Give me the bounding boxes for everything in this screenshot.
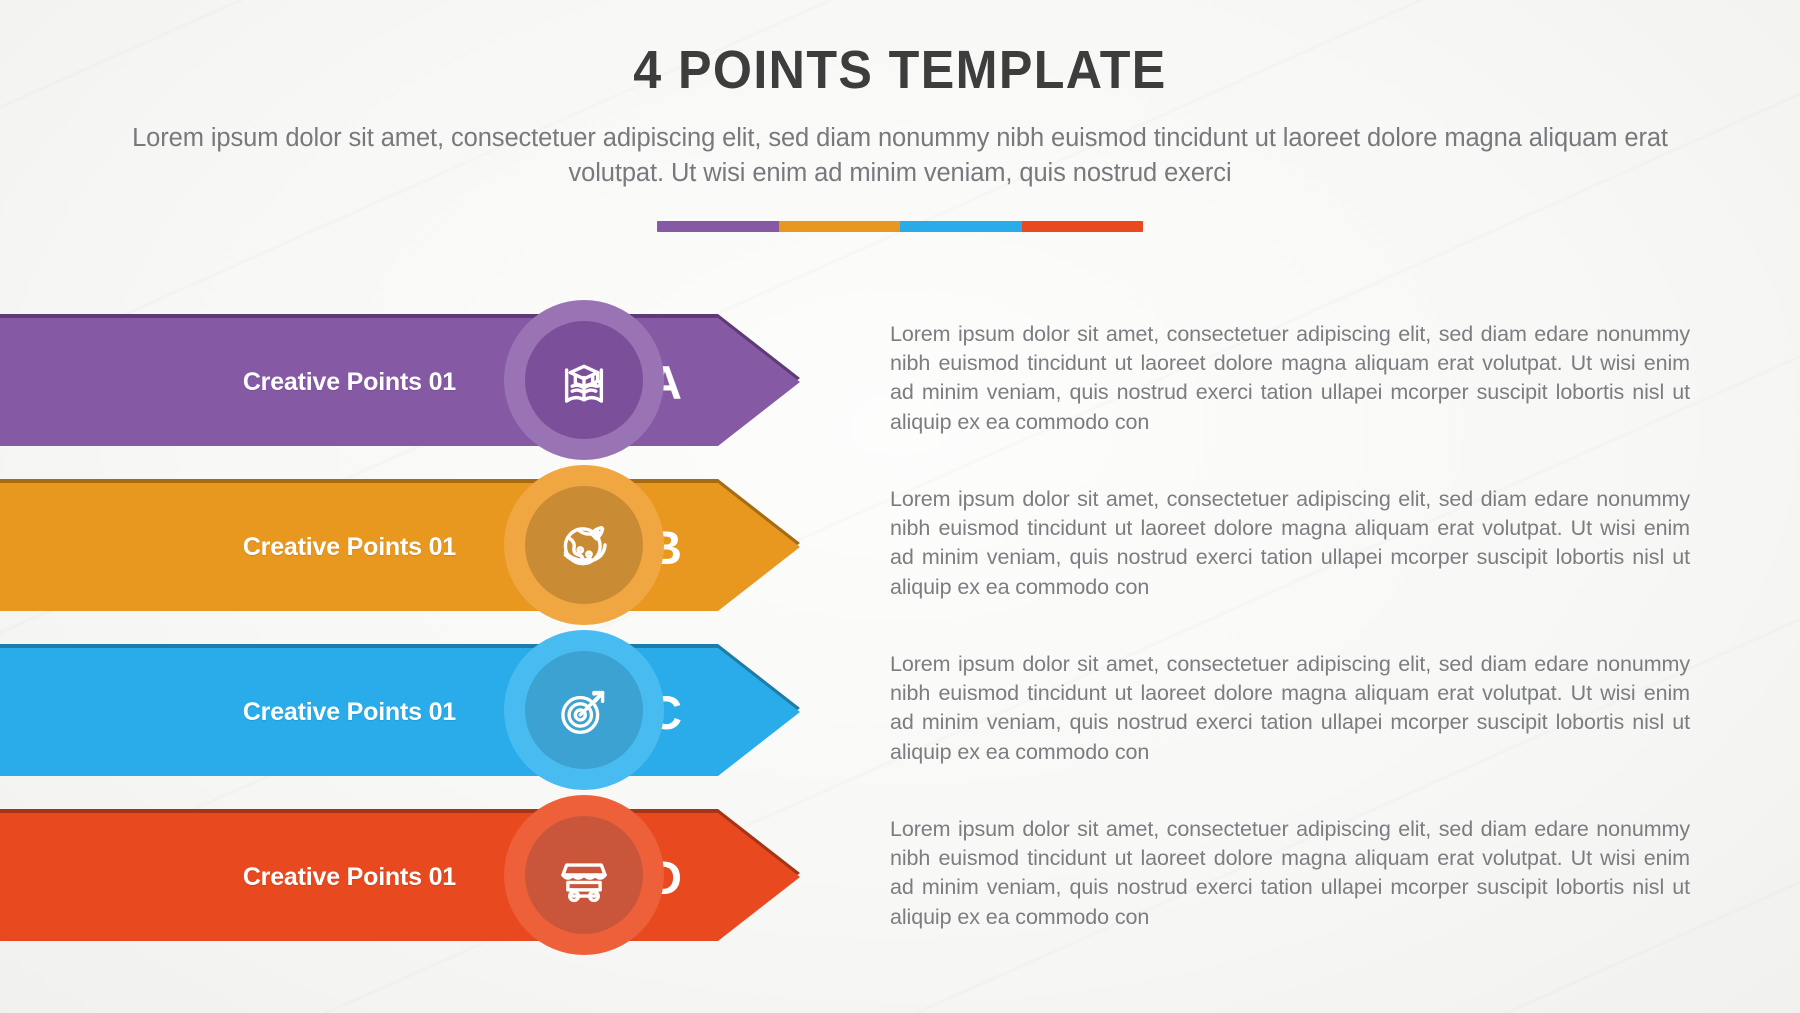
point-description: Lorem ipsum dolor sit amet, consectetuer… bbox=[890, 815, 1690, 932]
header: 4 POINTS TEMPLATE Lorem ipsum dolor sit … bbox=[0, 0, 1800, 191]
divider-segment-2 bbox=[779, 221, 901, 232]
page-subtitle: Lorem ipsum dolor sit amet, consectetuer… bbox=[120, 121, 1680, 191]
point-badge[interactable] bbox=[504, 630, 664, 790]
point-badge[interactable] bbox=[504, 300, 664, 460]
point-bar[interactable]: Creative Points 01 C bbox=[0, 648, 800, 776]
divider-wrap bbox=[0, 221, 1800, 232]
point-row-d[interactable]: Creative Points 01 D Lorem ipsum dolor s… bbox=[0, 795, 1800, 960]
badge-inner bbox=[525, 816, 643, 934]
badge-inner bbox=[525, 651, 643, 769]
point-label: Creative Points 01 bbox=[0, 318, 468, 446]
globe-rocket-icon bbox=[553, 514, 615, 576]
point-label: Creative Points 01 bbox=[0, 483, 468, 611]
points-list: Creative Points 01 A Lorem ipsum dolor s… bbox=[0, 300, 1800, 960]
point-row-c[interactable]: Creative Points 01 C Lorem ipsum dolor s… bbox=[0, 630, 1800, 795]
point-description: Lorem ipsum dolor sit amet, consectetuer… bbox=[890, 320, 1690, 437]
point-description: Lorem ipsum dolor sit amet, consectetuer… bbox=[890, 485, 1690, 602]
point-bar[interactable]: Creative Points 01 B bbox=[0, 483, 800, 611]
target-arrow-icon bbox=[553, 679, 615, 741]
page-title: 4 POINTS TEMPLATE bbox=[63, 42, 1737, 99]
point-row-a[interactable]: Creative Points 01 A Lorem ipsum dolor s… bbox=[0, 300, 1800, 465]
divider-segment-4 bbox=[1022, 221, 1144, 232]
graduation-book-icon bbox=[553, 349, 615, 411]
point-label: Creative Points 01 bbox=[0, 648, 468, 776]
color-divider bbox=[657, 221, 1143, 232]
market-stall-icon bbox=[553, 844, 615, 906]
divider-segment-3 bbox=[900, 221, 1022, 232]
divider-segment-1 bbox=[657, 221, 779, 232]
point-description: Lorem ipsum dolor sit amet, consectetuer… bbox=[890, 650, 1690, 767]
point-bar[interactable]: Creative Points 01 A bbox=[0, 318, 800, 446]
point-bar[interactable]: Creative Points 01 D bbox=[0, 813, 800, 941]
badge-inner bbox=[525, 486, 643, 604]
point-badge[interactable] bbox=[504, 795, 664, 955]
badge-inner bbox=[525, 321, 643, 439]
point-row-b[interactable]: Creative Points 01 B Lorem ipsum dolor s… bbox=[0, 465, 1800, 630]
point-badge[interactable] bbox=[504, 465, 664, 625]
point-label: Creative Points 01 bbox=[0, 813, 468, 941]
